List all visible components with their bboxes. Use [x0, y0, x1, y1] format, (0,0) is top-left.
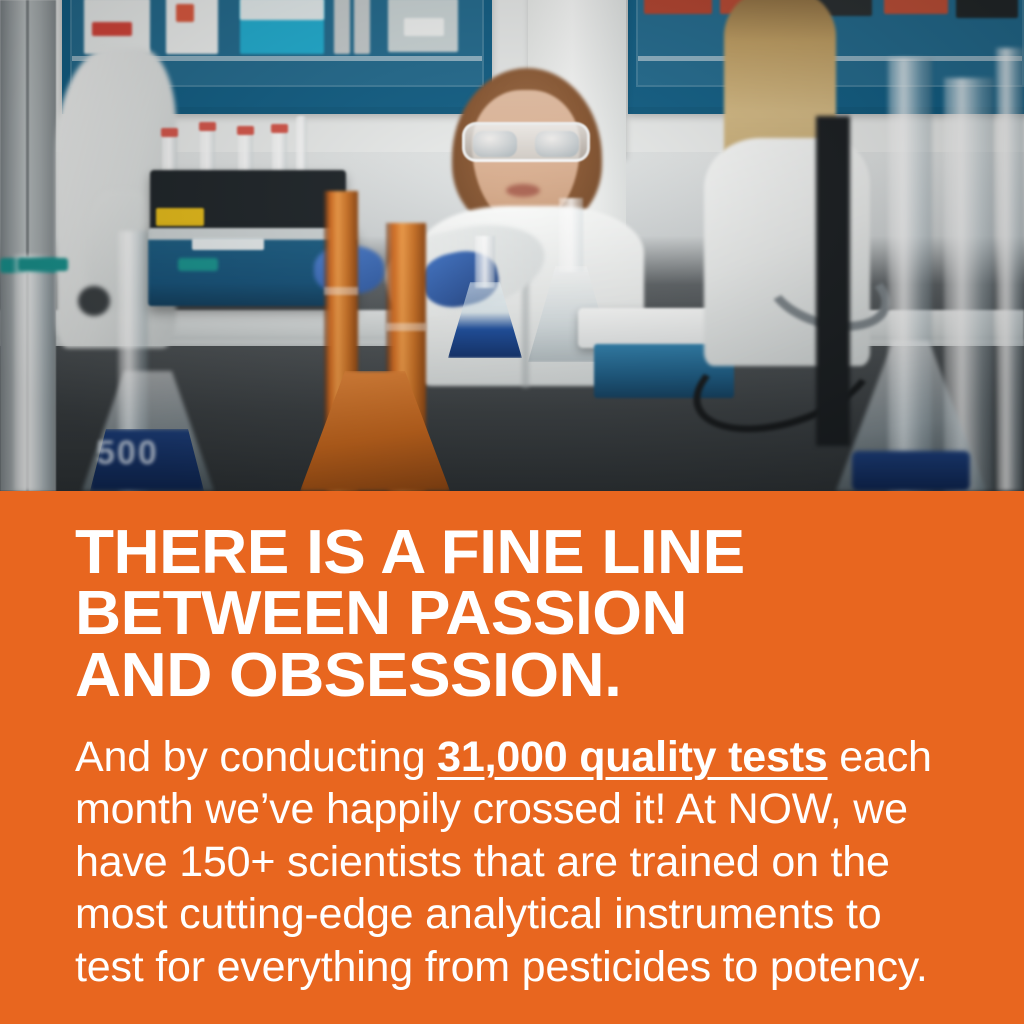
teal-stopper — [18, 258, 68, 271]
cylinder-body — [996, 48, 1024, 491]
headline-line-3: AND OBSESSION. — [75, 645, 1002, 706]
emphasized-stat: 31,000 quality tests — [437, 733, 827, 781]
shelf-box — [884, 0, 948, 14]
technician-left-hand — [78, 286, 110, 316]
tall-glass-cylinder — [996, 48, 1024, 491]
clear-flask-far-left — [14, 255, 54, 491]
headline-line-1: THERE IS A FINE LINE — [75, 522, 1002, 583]
flask-dark-liquid — [852, 451, 970, 491]
body-copy: And by conducting 31,000 quality tests e… — [75, 731, 955, 993]
test-tube-cap — [161, 128, 178, 137]
goggle-lens-right — [535, 131, 579, 157]
body-line-5: test for everything from pesticides to p… — [75, 941, 955, 993]
body-line-2: month we’ve happily crossed it! At NOW, … — [75, 783, 955, 835]
shelf-box-label — [404, 18, 444, 36]
flask-graduation-ring — [324, 287, 358, 295]
page-title: THERE IS A FINE LINE BETWEEN PASSION AND… — [75, 522, 1002, 706]
test-tube-cap — [271, 124, 288, 133]
flask-blue-liquid — [448, 236, 522, 358]
instrument-display — [192, 238, 264, 250]
shelf-box — [956, 0, 1018, 18]
goggle-lens-left — [473, 131, 517, 157]
body-line-1-pre: And by conducting — [75, 733, 437, 781]
body-line-1: And by conducting 31,000 quality tests e… — [75, 731, 955, 783]
body-line-1-post: each — [828, 733, 932, 781]
test-tube-cap — [199, 122, 216, 131]
flask-neck — [559, 198, 583, 272]
flask-graduation-ring — [386, 323, 426, 331]
headline-line-2: BETWEEN PASSION — [75, 583, 1002, 644]
shelf-bottle — [334, 0, 350, 54]
flask-volume-label: 500 — [96, 434, 159, 473]
safety-goggles — [462, 122, 590, 162]
shelf-bottle — [354, 0, 370, 54]
shelf-box-label — [176, 4, 194, 22]
body-line-3: have 150+ scientists that are trained on… — [75, 836, 955, 888]
rack-warning-label — [156, 208, 204, 226]
poster-canvas: 500 THERE IS A FINE LINE BETWEEN PASSION… — [0, 0, 1024, 1024]
shelf-box-top — [240, 0, 324, 20]
orange-text-panel: THERE IS A FINE LINE BETWEEN PASSION AND… — [0, 491, 1024, 1024]
teal-stopper — [178, 258, 218, 271]
shelf-box-label — [92, 22, 132, 36]
test-tube-cap — [237, 126, 254, 135]
flask-neck — [475, 236, 495, 288]
flask-neck — [14, 255, 54, 491]
flask-body — [448, 282, 522, 358]
scientist-mouth — [506, 184, 540, 197]
body-line-4: most cutting-edge analytical instruments… — [75, 888, 955, 940]
amber-flask-bulb — [300, 371, 450, 491]
flask-body — [300, 371, 450, 491]
lab-photograph: 500 — [0, 0, 1024, 491]
